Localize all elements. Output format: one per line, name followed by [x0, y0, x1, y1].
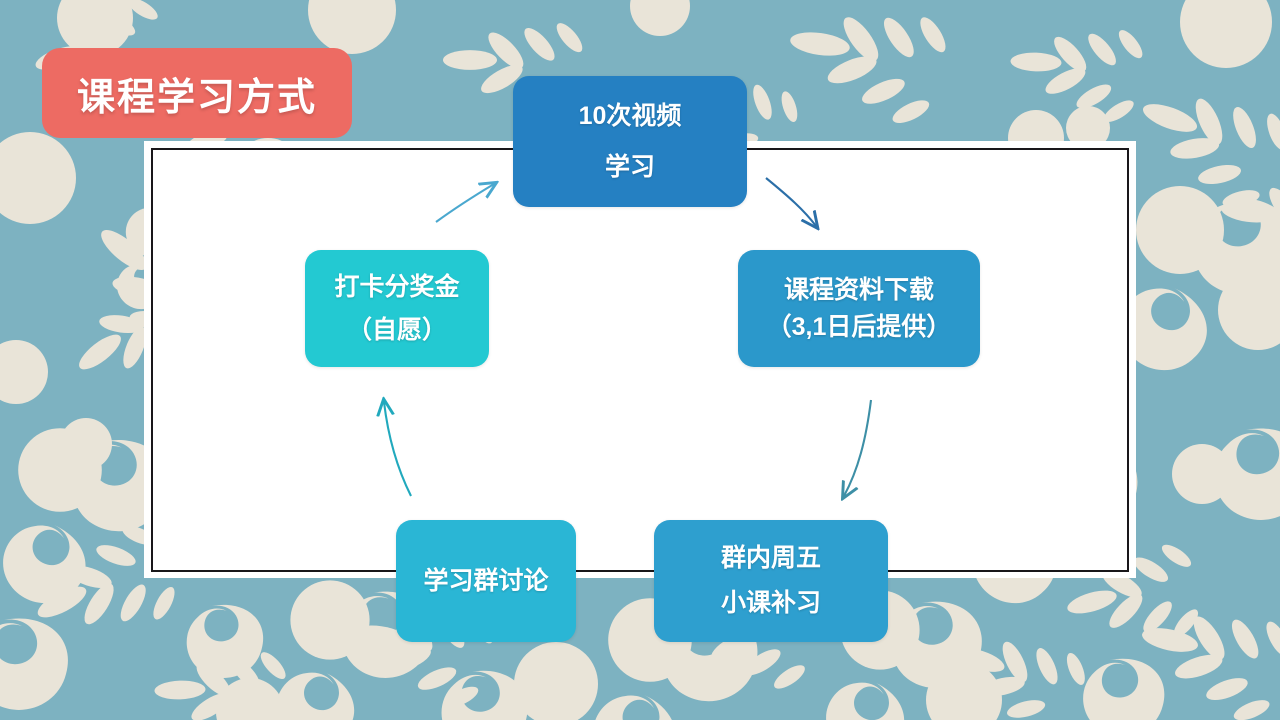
page-title: 课程学习方式 [77, 66, 317, 121]
flow-node-video-lessons-line-2: 学习 [605, 155, 655, 180]
slide-canvas: 课程学习方式 10次视频 学习 [0, 0, 1280, 720]
page-title-badge: 课程学习方式 [42, 48, 352, 138]
flow-node-friday-group-tutoring-line-2: 小课补习 [721, 591, 821, 616]
flow-node-course-materials-download-line-1: 课程资料下载 [784, 278, 934, 303]
flow-node-course-materials-download-line-2: （3,1日后提供） [767, 315, 952, 340]
flow-node-video-lessons[interactable]: 10次视频 学习 [513, 76, 747, 207]
flow-node-friday-group-tutoring-line-1: 群内周五 [721, 546, 821, 571]
flow-node-study-group-discussion[interactable]: 学习群讨论 [396, 520, 576, 642]
flow-node-video-lessons-line-1: 10次视频 [579, 104, 682, 129]
flow-node-checkin-bonus-line-1: 打卡分奖金 [334, 275, 459, 300]
flow-node-checkin-bonus[interactable]: 打卡分奖金 （自愿） [305, 250, 489, 367]
flow-node-study-group-discussion-line-1: 学习群讨论 [423, 569, 548, 594]
flow-node-checkin-bonus-line-2: （自愿） [347, 318, 447, 343]
content-panel-border [151, 148, 1129, 572]
flow-node-friday-group-tutoring[interactable]: 群内周五 小课补习 [654, 520, 888, 642]
flow-node-course-materials-download[interactable]: 课程资料下载 （3,1日后提供） [738, 250, 980, 367]
